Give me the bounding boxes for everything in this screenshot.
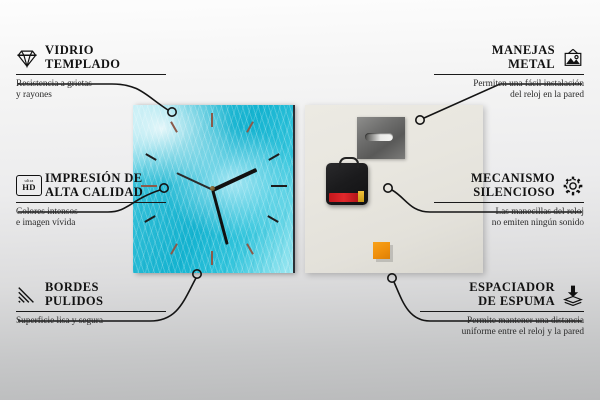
clock-minute-hand	[212, 189, 229, 244]
feature-description: Colores intensos e imagen vívida	[16, 207, 166, 230]
feature-description: Permiten una fácil instalación del reloj…	[434, 79, 584, 102]
hanger-slot	[365, 133, 393, 141]
feature-tempered-glass: Vidrio Templado Resistencia a grietas y …	[16, 44, 166, 102]
divider	[16, 74, 166, 75]
picture-frame-hanging-icon	[562, 47, 584, 69]
clock-second-hand	[176, 172, 213, 191]
feature-description: Permite mantener una distancia uniforme …	[420, 316, 584, 339]
feature-description: Superficie lisa y segura	[16, 316, 166, 327]
feature-foam-spacer: Espaciador de Espuma Permite mantener un…	[420, 281, 584, 339]
divider	[434, 74, 584, 75]
arrow-down-stack-icon	[562, 284, 584, 306]
battery-strip	[329, 193, 362, 202]
feature-title: Vidrio Templado	[45, 44, 120, 71]
clock-mechanism	[326, 163, 368, 205]
metal-hanger-plate	[357, 117, 405, 159]
feature-title: Impresión de Alta Calidad	[45, 172, 143, 199]
divider	[16, 202, 166, 203]
feature-description: Las manecillas del reloj no emiten ningú…	[434, 207, 584, 230]
feature-title: Bordes Pulidos	[45, 281, 103, 308]
feature-silent-mechanism: Mecanismo Silencioso Las manecillas del …	[434, 172, 584, 230]
divider	[434, 202, 584, 203]
diamond-icon	[16, 47, 38, 69]
divider	[16, 311, 166, 312]
mechanism-loop	[339, 157, 359, 168]
feature-title: Mecanismo Silencioso	[471, 172, 555, 199]
ultra-hd-icon: ultraHD	[16, 175, 38, 197]
polished-edges-icon	[16, 284, 38, 306]
divider	[420, 311, 584, 312]
feature-metal-handles: Manejas Metal Permiten una fácil instala…	[434, 44, 584, 102]
foam-spacer-piece	[373, 242, 390, 259]
gear-icon	[562, 175, 584, 197]
feature-title: Espaciador de Espuma	[469, 281, 555, 308]
feature-title: Manejas Metal	[492, 44, 555, 71]
feature-description: Resistencia a grietas y rayones	[16, 79, 166, 102]
clock-center-pin	[210, 186, 215, 191]
feature-polished-edges: Bordes Pulidos Superficie lisa y segura	[16, 281, 166, 327]
clock-hour-hand	[212, 168, 257, 192]
product-infographic: Vidrio Templado Resistencia a grietas y …	[0, 0, 600, 400]
